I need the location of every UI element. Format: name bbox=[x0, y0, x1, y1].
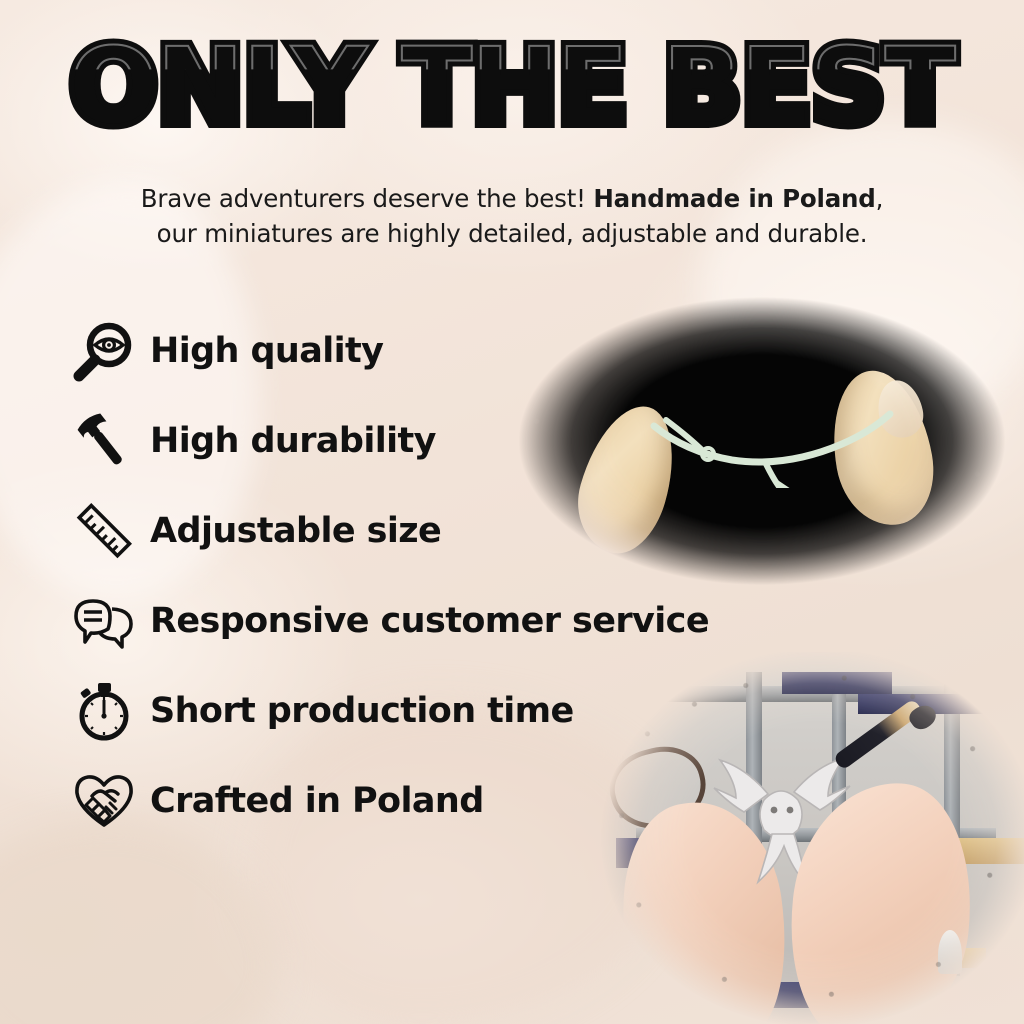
small-miniature bbox=[938, 930, 962, 974]
feature-label: Adjustable size bbox=[150, 511, 441, 551]
subtitle: Brave adventurers deserve the best! Hand… bbox=[96, 182, 928, 252]
miniature-tray bbox=[782, 672, 892, 694]
feature-label: Responsive customer service bbox=[150, 601, 709, 641]
feature-label: High quality bbox=[150, 331, 383, 371]
bendable-miniature-part bbox=[646, 408, 896, 488]
flexible-miniature-photo bbox=[506, 276, 1018, 606]
watercolor-blotch bbox=[0, 820, 280, 1024]
workshop-scene bbox=[596, 652, 1024, 1024]
subtitle-line1-post: , bbox=[876, 184, 884, 213]
subtitle-highlight: Handmade in Poland bbox=[593, 184, 875, 213]
magnifier-eye-icon bbox=[66, 313, 142, 389]
heart-handshake-icon bbox=[66, 763, 142, 839]
stopwatch-icon bbox=[66, 673, 142, 749]
page-title: ONLY THE BEST bbox=[0, 34, 1024, 138]
speech-bubbles-icon bbox=[66, 583, 142, 659]
feature-label: High durability bbox=[150, 421, 436, 461]
painting-workshop-photo bbox=[596, 652, 1024, 1024]
subtitle-line2: our miniatures are highly detailed, adju… bbox=[157, 219, 868, 248]
ruler-icon bbox=[66, 493, 142, 569]
hammer-icon bbox=[66, 403, 142, 479]
promo-poster: ONLY THE BEST ONLY THE BEST Brave advent… bbox=[0, 0, 1024, 1024]
feature-label: Crafted in Poland bbox=[150, 781, 484, 821]
subtitle-line1-pre: Brave adventurers deserve the best! bbox=[141, 184, 594, 213]
photo-backdrop bbox=[506, 276, 1018, 606]
feature-label: Short production time bbox=[150, 691, 574, 731]
